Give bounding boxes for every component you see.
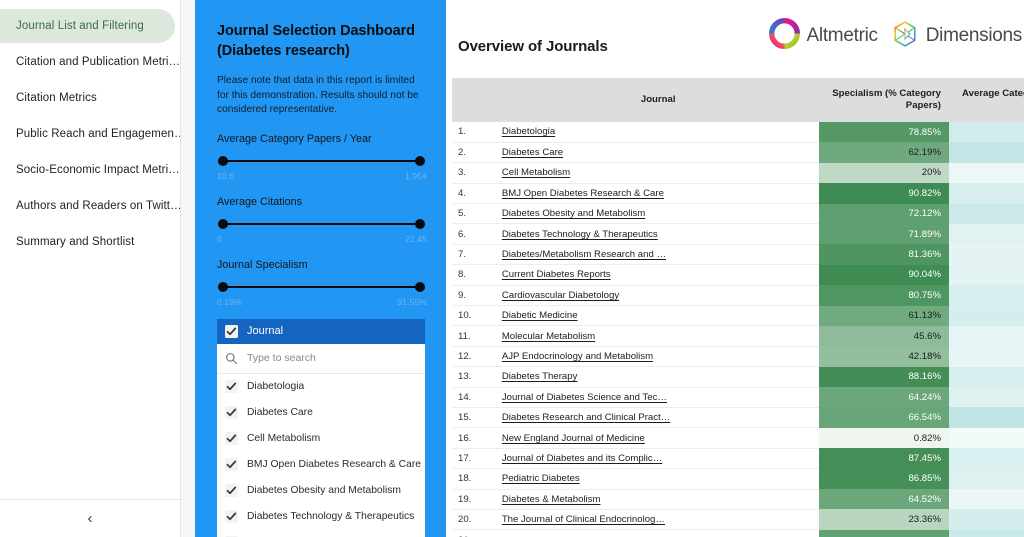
sidebar-item-label: Citation Metrics [16, 92, 97, 104]
cell-avg-category-papers: 159.4 [949, 285, 1024, 305]
cell-avg-category-papers: 162.2 [949, 183, 1024, 203]
cell-index: 12. [452, 346, 498, 366]
table-row[interactable]: 18.Pediatric Diabetes86.85%126.832.580.3… [452, 469, 1024, 489]
table-row[interactable]: 11.Molecular Metabolism45.6%8341.470.238… [452, 326, 1024, 346]
dashboard-root: Journal List and FilteringCitation and P… [0, 0, 1024, 537]
slider-handle-min[interactable] [218, 282, 228, 292]
table-row[interactable]: 14.Journal of Diabetes Science and Tec…6… [452, 387, 1024, 407]
cell-index: 16. [452, 428, 498, 448]
table-row[interactable]: 15.Diabetes Research and Clinical Pract…… [452, 407, 1024, 427]
cell-specialism: 71.89% [819, 224, 949, 244]
table-row[interactable]: 2.Diabetes Care62.19%303112.262.7420.44 [452, 142, 1024, 162]
slider-min-value: 10.6 [217, 171, 234, 181]
dimensions-logo: Dimensions [891, 20, 1022, 53]
slider-max-value: 91.55% [397, 297, 427, 307]
journal-option-label: Diabetologia [247, 381, 304, 392]
filter-panel: Journal Selection Dashboard (Diabetes re… [195, 0, 446, 537]
table-row[interactable]: 4.BMJ Open Diabetes Research & Care90.82… [452, 183, 1024, 203]
slider-line [223, 286, 420, 289]
journal-link[interactable]: Pediatric Diabetes [502, 473, 580, 484]
cell-journal[interactable]: Current Diabetes Reports [498, 265, 819, 285]
cell-journal[interactable]: Diabetologia [498, 122, 819, 142]
sidebar-item-3[interactable]: Public Reach and Engagemen… [0, 117, 180, 151]
table-row[interactable]: 17.Journal of Diabetes and its Complic…8… [452, 448, 1024, 468]
journal-option-label: Diabetes Obesity and Metabolism [247, 485, 401, 496]
cell-avg-category-papers: 196.8 [949, 122, 1024, 142]
table-body: 1.Diabetologia78.85%196.891.082.8538.782… [452, 122, 1024, 537]
cell-index: 14. [452, 387, 498, 407]
sidebar-item-0[interactable]: Journal List and Filtering [0, 9, 175, 43]
journal-link[interactable]: Diabetes Research and Clinical Pract… [502, 412, 671, 423]
checkbox-checked-icon[interactable] [225, 325, 238, 338]
table-row[interactable]: 1.Diabetologia78.85%196.891.082.8538.78 [452, 122, 1024, 142]
dashboard-title: Journal Selection Dashboard (Diabetes re… [217, 22, 427, 61]
journal-link[interactable]: Diabetes Care [502, 147, 563, 158]
cell-journal[interactable]: AJP Endocrinology and Metabolism [498, 346, 819, 366]
nav-sidebar: Journal List and FilteringCitation and P… [0, 0, 181, 537]
cell-avg-category-papers: 69 [949, 346, 1024, 366]
cell-specialism: 78.85% [819, 122, 949, 142]
journal-link[interactable]: Cell Metabolism [502, 167, 570, 178]
journal-link[interactable]: AJP Endocrinology and Metabolism [502, 351, 653, 362]
cell-specialism [819, 530, 949, 537]
cell-index: 19. [452, 489, 498, 509]
cell-journal[interactable] [498, 530, 819, 537]
journals-table: Journal Specialism (% Category Papers) A… [452, 78, 1024, 537]
cell-specialism: 86.85% [819, 469, 949, 489]
col-avg-category-papers[interactable]: Average Category Papers / Year [949, 78, 1024, 122]
sidebar-item-label: Socio-Economic Impact Metri… [16, 164, 180, 176]
cell-specialism: 61.13% [819, 306, 949, 326]
slider-handle-max[interactable] [415, 156, 425, 166]
table-row[interactable]: 19.Diabetes & Metabolism64.52%4847.240.1… [452, 489, 1024, 509]
slider-min-value: 0 [217, 234, 222, 244]
cell-journal[interactable]: Diabetic Medicine [498, 306, 819, 326]
journal-option-label: BMJ Open Diabetes Research & Care [247, 459, 421, 470]
checkbox-checked-icon[interactable] [225, 484, 238, 497]
journals-table-wrapper[interactable]: Journal Specialism (% Category Papers) A… [452, 78, 1024, 537]
journal-link[interactable]: Diabetes Obesity and Metabolism [502, 208, 645, 219]
cell-avg-category-papers: 48 [949, 489, 1024, 509]
slider-label: Average Citations [217, 196, 427, 208]
journal-link[interactable]: Diabetes/Metabolism Research and … [502, 249, 666, 260]
table-row[interactable]: 6.Diabetes Technology & Therapeutics71.8… [452, 224, 1024, 244]
cell-journal[interactable]: Diabetes/Metabolism Research and … [498, 244, 819, 264]
journal-link[interactable]: Diabetes Technology & Therapeutics [502, 229, 658, 240]
journal-link[interactable]: BMJ Open Diabetes Research & Care [502, 188, 664, 199]
slider-track[interactable] [218, 219, 425, 229]
cell-index: 17. [452, 448, 498, 468]
panel-gap [181, 0, 195, 537]
journal-link[interactable]: Journal of Diabetes and its Complic… [502, 453, 663, 464]
table-row[interactable]: 13.Diabetes Therapy88.16%168.233.020.216… [452, 367, 1024, 387]
chevron-left-icon: ‹ [88, 511, 93, 526]
cell-specialism: 66.54% [819, 407, 949, 427]
journal-search-row [217, 344, 425, 374]
checkbox-checked-icon[interactable] [225, 380, 238, 393]
slider-track[interactable] [218, 156, 425, 166]
sidebar-item-label: Citation and Publication Metri… [16, 56, 180, 68]
slider-max-value: 22.45 [405, 234, 427, 244]
table-header: Journal Specialism (% Category Papers) A… [452, 78, 1024, 122]
cell-journal[interactable]: Diabetes Research and Clinical Pract… [498, 407, 819, 427]
journal-option-label: Diabetes Care [247, 407, 313, 418]
sidebar-item-2[interactable]: Citation Metrics [0, 81, 180, 115]
cell-journal[interactable]: New England Journal of Medicine [498, 428, 819, 448]
journal-filter-dropdown: Journal DiabetologiaDiabetes CareCell Me… [217, 319, 425, 537]
journal-link[interactable]: Cardiovascular Diabetology [502, 290, 619, 301]
altmetric-wordmark: Altmetric [807, 25, 878, 47]
cell-avg-category-papers: 242.6 [949, 204, 1024, 224]
journal-link[interactable]: Molecular Metabolism [502, 331, 595, 342]
cell-specialism: 80.75% [819, 285, 949, 305]
cell-avg-category-papers: 184.2 [949, 509, 1024, 529]
sidebar-item-6[interactable]: Summary and Shortlist [0, 225, 180, 259]
dashboard-note: Please note that data in this report is … [217, 74, 427, 117]
sidebar-item-5[interactable]: Authors and Readers on Twitt… [0, 189, 180, 223]
cell-specialism: 0.82% [819, 428, 949, 448]
slider-label: Journal Specialism [217, 259, 427, 271]
journal-link[interactable]: Current Diabetes Reports [502, 269, 611, 280]
cell-journal[interactable]: Molecular Metabolism [498, 326, 819, 346]
table-row[interactable]: 10.Diabetic Medicine61.13%186.829.680.34… [452, 306, 1024, 326]
main-content: Overview of Journals [446, 0, 1024, 537]
cell-avg-category-papers: 92.2 [949, 265, 1024, 285]
journal-link[interactable]: Diabetes & Metabolism [502, 494, 601, 505]
table-row[interactable]: 7.Diabetes/Metabolism Research and …81.3… [452, 244, 1024, 264]
cell-specialism: 23.36% [819, 509, 949, 529]
cell-specialism: 88.16% [819, 367, 949, 387]
cell-journal[interactable]: Cell Metabolism [498, 163, 819, 183]
search-icon [225, 352, 238, 365]
cell-index: 2. [452, 142, 498, 162]
brand-logos: Altmetric [769, 18, 1022, 54]
journal-link[interactable]: Diabetic Medicine [502, 310, 578, 321]
table-row[interactable]: 21. [452, 530, 1024, 537]
sidebar-item-label: Summary and Shortlist [16, 236, 134, 248]
journal-link[interactable]: New England Journal of Medicine [502, 433, 645, 444]
cell-index: 13. [452, 367, 498, 387]
cell-index: 18. [452, 469, 498, 489]
cell-index: 20. [452, 509, 498, 529]
cell-avg-category-papers [949, 530, 1024, 537]
col-index[interactable] [452, 78, 498, 122]
search-input[interactable] [247, 352, 417, 364]
cell-specialism: 64.52% [819, 489, 949, 509]
cell-avg-category-papers: 90.8 [949, 244, 1024, 264]
col-journal[interactable]: Journal [498, 78, 819, 122]
slider-line [223, 223, 420, 226]
slider-line [223, 160, 420, 163]
cell-avg-category-papers: 12 [949, 428, 1024, 448]
cell-avg-category-papers: 102.8 [949, 224, 1024, 244]
cell-specialism: 72.12% [819, 204, 949, 224]
cell-index: 9. [452, 285, 498, 305]
slider-0: Average Category Papers / Year10.61,954 [217, 133, 427, 181]
slider-max-value: 1,954 [405, 171, 427, 181]
dimensions-wordmark: Dimensions [926, 25, 1022, 47]
slider-track[interactable] [218, 282, 425, 292]
journal-option[interactable]: Cell Metabolism [217, 426, 425, 452]
sidebar-item-label: Public Reach and Engagemen… [16, 128, 180, 140]
cell-index: 6. [452, 224, 498, 244]
cell-index: 4. [452, 183, 498, 203]
cell-journal[interactable]: Journal of Diabetes and its Complic… [498, 448, 819, 468]
journal-option[interactable]: Diabetes Technology & Therapeutics [217, 504, 425, 530]
cell-specialism: 62.19% [819, 142, 949, 162]
cell-journal[interactable]: BMJ Open Diabetes Research & Care [498, 183, 819, 203]
cell-journal[interactable]: Diabetes & Metabolism [498, 489, 819, 509]
journal-option-label: Diabetes Technology & Therapeutics [247, 511, 414, 522]
altmetric-logo: Altmetric [769, 18, 878, 54]
cell-journal[interactable]: Diabetes Obesity and Metabolism [498, 204, 819, 224]
sidebar-item-label: Authors and Readers on Twitt… [16, 200, 180, 212]
cell-specialism: 20% [819, 163, 949, 183]
slider-1: Average Citations022.45 [217, 196, 427, 244]
cell-index: 8. [452, 265, 498, 285]
checkbox-checked-icon[interactable] [225, 458, 238, 471]
cell-index: 5. [452, 204, 498, 224]
journal-link[interactable]: Diabetes Therapy [502, 371, 578, 382]
journal-option[interactable]: Diabetes Obesity and Metabolism [217, 478, 425, 504]
journal-option[interactable]: Diabetologia [217, 374, 425, 400]
main-header: Overview of Journals [446, 0, 1024, 70]
cell-avg-category-papers: 83 [949, 326, 1024, 346]
cell-journal[interactable]: Diabetes Technology & Therapeutics [498, 224, 819, 244]
sidebar-collapse-button[interactable]: ‹ [0, 499, 180, 537]
cell-index: 15. [452, 407, 498, 427]
cell-journal[interactable]: Pediatric Diabetes [498, 469, 819, 489]
slider-label: Average Category Papers / Year [217, 133, 427, 145]
cell-specialism: 42.18% [819, 346, 949, 366]
cell-journal[interactable]: Cardiovascular Diabetology [498, 285, 819, 305]
journal-link[interactable]: Journal of Diabetes Science and Tec… [502, 392, 667, 403]
journal-link[interactable]: The Journal of Clinical Endocrinolog… [502, 514, 665, 525]
checkbox-checked-icon[interactable] [225, 432, 238, 445]
journal-option-list: DiabetologiaDiabetes CareCell Metabolism… [217, 374, 425, 537]
cell-index: 21. [452, 530, 498, 537]
cell-index: 1. [452, 122, 498, 142]
table-row[interactable]: 9.Cardiovascular Diabetology80.75%159.47… [452, 285, 1024, 305]
cell-journal[interactable]: Diabetes Care [498, 142, 819, 162]
cell-index: 11. [452, 326, 498, 346]
sidebar-item-label: Journal List and Filtering [16, 20, 144, 32]
cell-index: 3. [452, 163, 498, 183]
cell-specialism: 87.45% [819, 448, 949, 468]
checkbox-checked-icon[interactable] [225, 406, 238, 419]
journal-option[interactable]: Diabetes Care [217, 400, 425, 426]
slider-handle-max[interactable] [415, 219, 425, 229]
cell-avg-category-papers: 303 [949, 142, 1024, 162]
slider-min-value: 0.19% [217, 297, 242, 307]
cell-journal[interactable]: Diabetes Therapy [498, 367, 819, 387]
slider-handle-min[interactable] [218, 219, 228, 229]
sidebar-item-1[interactable]: Citation and Publication Metri… [0, 45, 180, 79]
sidebar-item-4[interactable]: Socio-Economic Impact Metri… [0, 153, 180, 187]
journal-link[interactable]: Diabetologia [502, 126, 555, 137]
altmetric-donut-icon [769, 18, 800, 54]
cell-avg-category-papers: 128.6 [949, 387, 1024, 407]
cell-avg-category-papers: 168.2 [949, 367, 1024, 387]
cell-avg-category-papers: 186.8 [949, 306, 1024, 326]
cell-specialism: 45.6% [819, 326, 949, 346]
cell-specialism: 90.04% [819, 265, 949, 285]
table-row[interactable]: 3.Cell Metabolism20%41.655.551.728 [452, 163, 1024, 183]
slider-2: Journal Specialism0.19%91.55% [217, 259, 427, 307]
table-row[interactable]: 20.The Journal of Clinical Endocrinolog…… [452, 509, 1024, 529]
dimensions-polyhedron-icon [891, 20, 919, 53]
cell-avg-category-papers: 126.8 [949, 469, 1024, 489]
journal-filter-header-label: Journal [247, 325, 283, 337]
table-row[interactable]: 16.New England Journal of Medicine0.82%1… [452, 428, 1024, 448]
cell-specialism: 81.36% [819, 244, 949, 264]
col-specialism[interactable]: Specialism (% Category Papers) [819, 78, 949, 122]
table-row[interactable]: 12.AJP Endocrinology and Metabolism42.18… [452, 346, 1024, 366]
journal-option-label: Cell Metabolism [247, 433, 320, 444]
journal-option[interactable]: BMJ Open Diabetes Research & Care [217, 452, 425, 478]
cell-specialism: 64.24% [819, 387, 949, 407]
cell-index: 7. [452, 244, 498, 264]
journal-filter-header[interactable]: Journal [217, 319, 425, 344]
cell-avg-category-papers: 41.6 [949, 163, 1024, 183]
table-row[interactable]: 5.Diabetes Obesity and Metabolism72.12%2… [452, 204, 1024, 224]
page-title: Overview of Journals [458, 38, 608, 55]
cell-journal[interactable]: Journal of Diabetes Science and Tec… [498, 387, 819, 407]
table-row[interactable]: 8.Current Diabetes Reports90.04%92.266.1… [452, 265, 1024, 285]
slider-handle-min[interactable] [218, 156, 228, 166]
cell-journal[interactable]: The Journal of Clinical Endocrinolog… [498, 509, 819, 529]
journal-option[interactable]: Diabetes/Metabolism Research and R… [217, 530, 425, 537]
cell-specialism: 90.82% [819, 183, 949, 203]
cell-avg-category-papers: 139.4 [949, 448, 1024, 468]
cell-avg-category-papers: 327.4 [949, 407, 1024, 427]
cell-index: 10. [452, 306, 498, 326]
slider-handle-max[interactable] [415, 282, 425, 292]
checkbox-checked-icon[interactable] [225, 510, 238, 523]
